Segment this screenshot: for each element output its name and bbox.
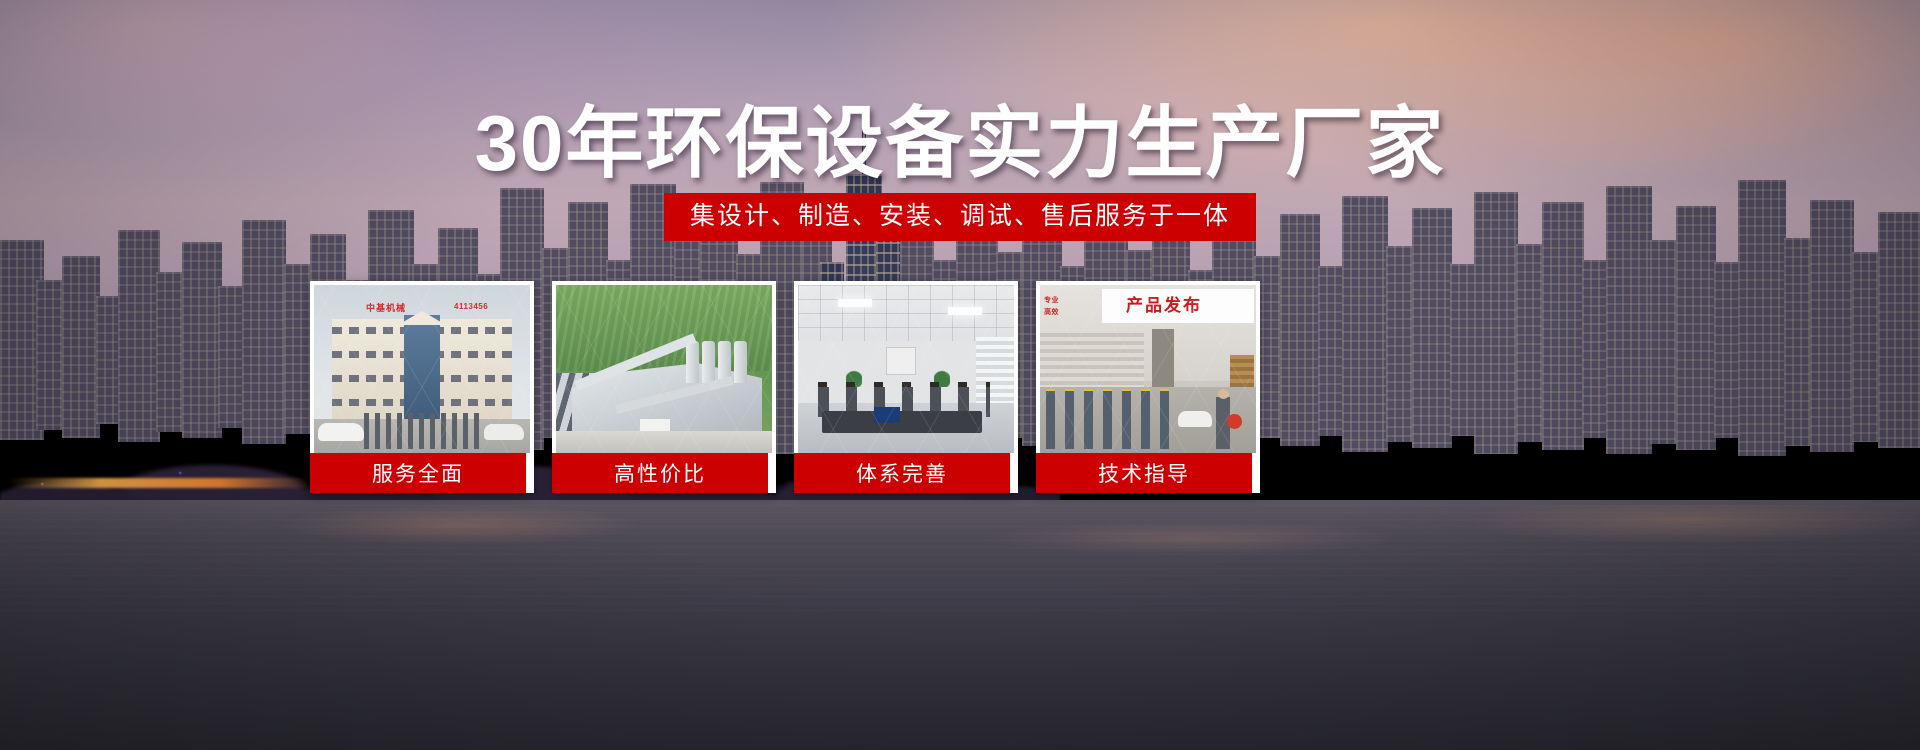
lit-bridge <box>10 478 310 488</box>
feature-card-caption: 高性价比 <box>552 453 768 493</box>
building-sign-secondary: 4113456 <box>454 302 488 311</box>
building-sign-text: 中基机械 <box>366 301 406 314</box>
factory-workshop-workers-photo: 产品发布 专业 高效 <box>1040 285 1256 453</box>
hero-banner: 30年环保设备实力生产厂家 集设计、制造、安装、调试、售后服务于一体 中基机械 … <box>0 0 1920 750</box>
water-reflections <box>0 505 1920 615</box>
banner-headline: 30年环保设备实力生产厂家 <box>0 104 1920 182</box>
office-meeting-room-photo <box>798 285 1014 453</box>
feature-card[interactable]: 产品发布 专业 高效 技术指导 <box>1036 281 1260 493</box>
workshop-banner-main: 产品发布 <box>1126 291 1202 316</box>
workshop-banner-left-bottom: 高效 <box>1044 307 1059 317</box>
feature-card-caption: 服务全面 <box>310 453 526 493</box>
feature-card[interactable]: 高性价比 <box>552 281 776 493</box>
feature-card-caption: 技术指导 <box>1036 453 1252 493</box>
company-office-building-photo: 中基机械 4113456 <box>314 285 530 453</box>
feature-card-list: 中基机械 4113456 服务全面 <box>310 281 1260 493</box>
aerial-production-plant-photo <box>556 285 772 453</box>
feature-card[interactable]: 中基机械 4113456 服务全面 <box>310 281 534 493</box>
feature-card[interactable]: 体系完善 <box>794 281 1018 493</box>
feature-card-caption: 体系完善 <box>794 453 1010 493</box>
workshop-banner-left-top: 专业 <box>1044 295 1059 305</box>
banner-subtitle-bar: 集设计、制造、安装、调试、售后服务于一体 <box>664 193 1256 241</box>
